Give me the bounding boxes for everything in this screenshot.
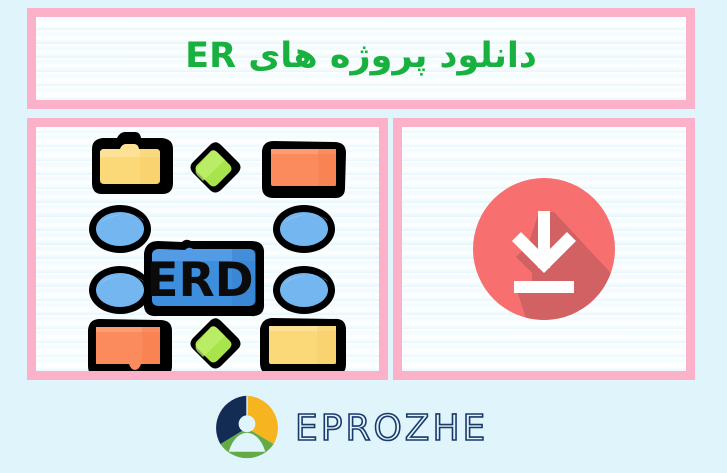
er-center-box: ERD xyxy=(144,240,264,316)
er-attribute-right-upper xyxy=(273,205,335,253)
er-entity-top-right xyxy=(262,141,346,198)
er-relationship-bottom xyxy=(191,318,241,368)
footer-logo[interactable]: EPROZHE EPROZHE xyxy=(0,388,727,468)
er-attribute-left-lower xyxy=(89,266,151,314)
er-entity-top-left xyxy=(92,132,173,194)
er-entity-bottom-right xyxy=(260,318,346,371)
eprozhe-logo-mark xyxy=(212,393,282,463)
er-diagram-panel: ERD xyxy=(27,118,388,380)
poster-canvas: دانلود پروژه های ER xyxy=(0,0,727,473)
er-entity-bottom-left xyxy=(88,319,172,371)
download-panel xyxy=(393,118,695,380)
page-title: دانلود پروژه های ER xyxy=(185,36,537,80)
er-diagram-panel-inner: ERD xyxy=(36,127,379,371)
er-relationship-top xyxy=(191,142,241,192)
header-panel: دانلود پروژه های ER xyxy=(27,8,695,109)
eprozhe-wordmark: EPROZHE EPROZHE xyxy=(294,405,516,451)
header-panel-inner: دانلود پروژه های ER xyxy=(36,17,686,100)
eprozhe-wordmark-inline: EPROZHE xyxy=(295,408,488,449)
download-icon[interactable] xyxy=(472,177,616,321)
logo-gap-top xyxy=(246,396,247,417)
er-diagram-illustration: ERD xyxy=(36,127,379,371)
erd-label: ERD xyxy=(146,253,253,308)
logo-person-head xyxy=(238,415,255,432)
er-attribute-left-upper xyxy=(89,205,151,253)
er-attribute-right-lower xyxy=(273,266,335,314)
download-panel-inner xyxy=(402,127,686,371)
